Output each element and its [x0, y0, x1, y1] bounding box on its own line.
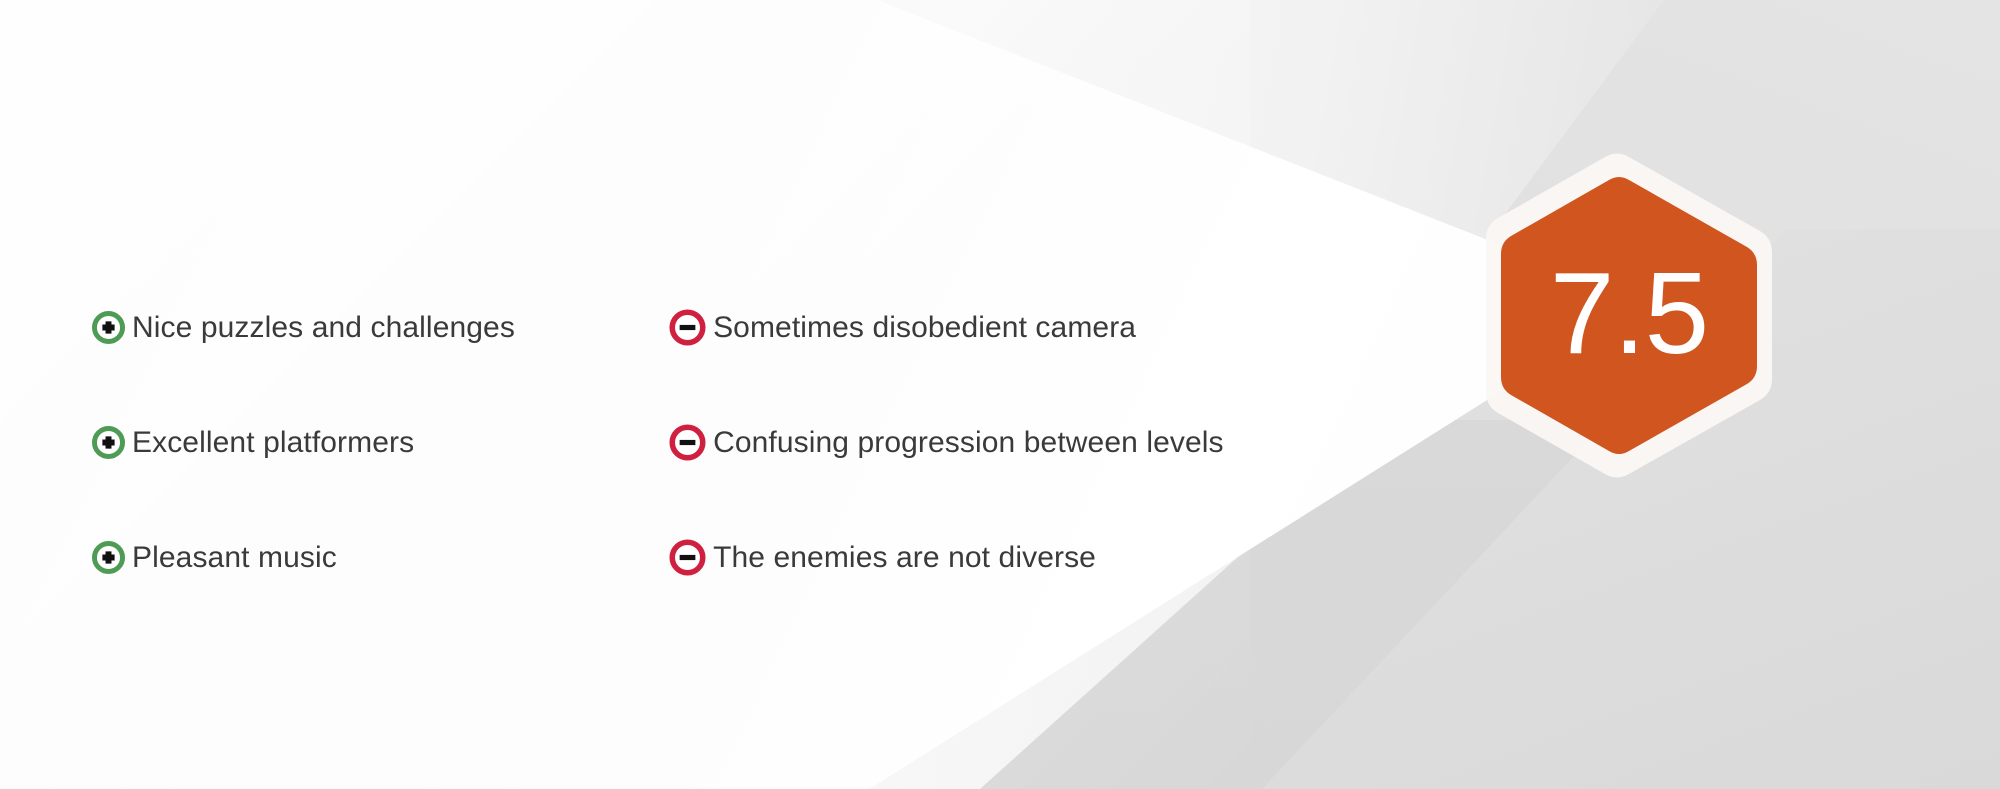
list-item-label: Nice puzzles and challenges: [132, 313, 515, 343]
list-item: Confusing progression between levels: [669, 385, 1400, 500]
pros-and-cons-lists: Nice puzzles and challenges Excellent pl…: [0, 270, 1400, 615]
list-item: Pleasant music: [92, 500, 669, 615]
plus-circle-icon: [92, 541, 125, 574]
list-item: Sometimes disobedient camera: [669, 270, 1400, 385]
list-item-label: Sometimes disobedient camera: [713, 313, 1136, 343]
review-verdict-banner: Nice puzzles and challenges Excellent pl…: [0, 0, 2000, 789]
list-item: Excellent platformers: [92, 385, 669, 500]
score-badge: 7.5: [1469, 143, 1789, 488]
pros-column: Nice puzzles and challenges Excellent pl…: [0, 270, 669, 615]
cons-column: Sometimes disobedient camera Confusing p…: [669, 270, 1400, 615]
score-value: 7.5: [1469, 143, 1789, 488]
list-item-label: Confusing progression between levels: [713, 428, 1224, 458]
minus-circle-icon: [669, 539, 706, 576]
list-item-label: The enemies are not diverse: [713, 543, 1096, 573]
plus-circle-icon: [92, 311, 125, 344]
minus-circle-icon: [669, 424, 706, 461]
plus-circle-icon: [92, 426, 125, 459]
list-item-label: Excellent platformers: [132, 428, 414, 458]
list-item: Nice puzzles and challenges: [92, 270, 669, 385]
minus-circle-icon: [669, 309, 706, 346]
list-item-label: Pleasant music: [132, 543, 337, 573]
list-item: The enemies are not diverse: [669, 500, 1400, 615]
